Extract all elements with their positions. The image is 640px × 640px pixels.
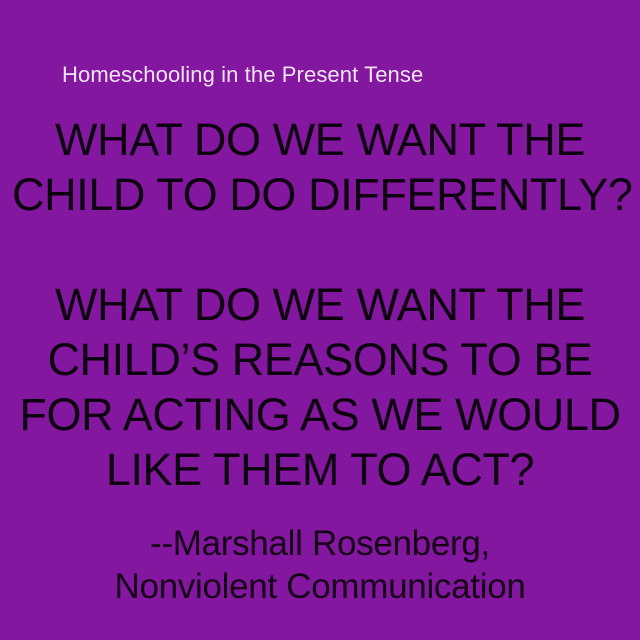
quote-line: LIKE THEM TO ACT? bbox=[12, 442, 628, 497]
blog-series-title: Homeschooling in the Present Tense bbox=[62, 62, 423, 88]
quote-paragraph-spacer bbox=[12, 222, 628, 277]
quote-card: Homeschooling in the Present Tense WHAT … bbox=[0, 0, 640, 640]
quote-attribution: --Marshall Rosenberg, Nonviolent Communi… bbox=[0, 522, 640, 608]
attribution-source: Nonviolent Communication bbox=[12, 565, 628, 608]
quote-line: WHAT DO WE WANT THE bbox=[12, 277, 628, 332]
quote-line: FOR ACTING AS WE WOULD bbox=[12, 387, 628, 442]
quote-line: CHILD’S REASONS TO BE bbox=[12, 332, 628, 387]
attribution-author: --Marshall Rosenberg, bbox=[12, 522, 628, 565]
quote-line: CHILD TO DO DIFFERENTLY? bbox=[12, 167, 628, 222]
quote-line: WHAT DO WE WANT THE bbox=[12, 112, 628, 167]
quote-paragraph-2: WHAT DO WE WANT THE CHILD’S REASONS TO B… bbox=[12, 277, 628, 497]
quote-paragraph-1: WHAT DO WE WANT THE CHILD TO DO DIFFEREN… bbox=[12, 112, 628, 222]
quote-body: WHAT DO WE WANT THE CHILD TO DO DIFFEREN… bbox=[0, 112, 640, 497]
